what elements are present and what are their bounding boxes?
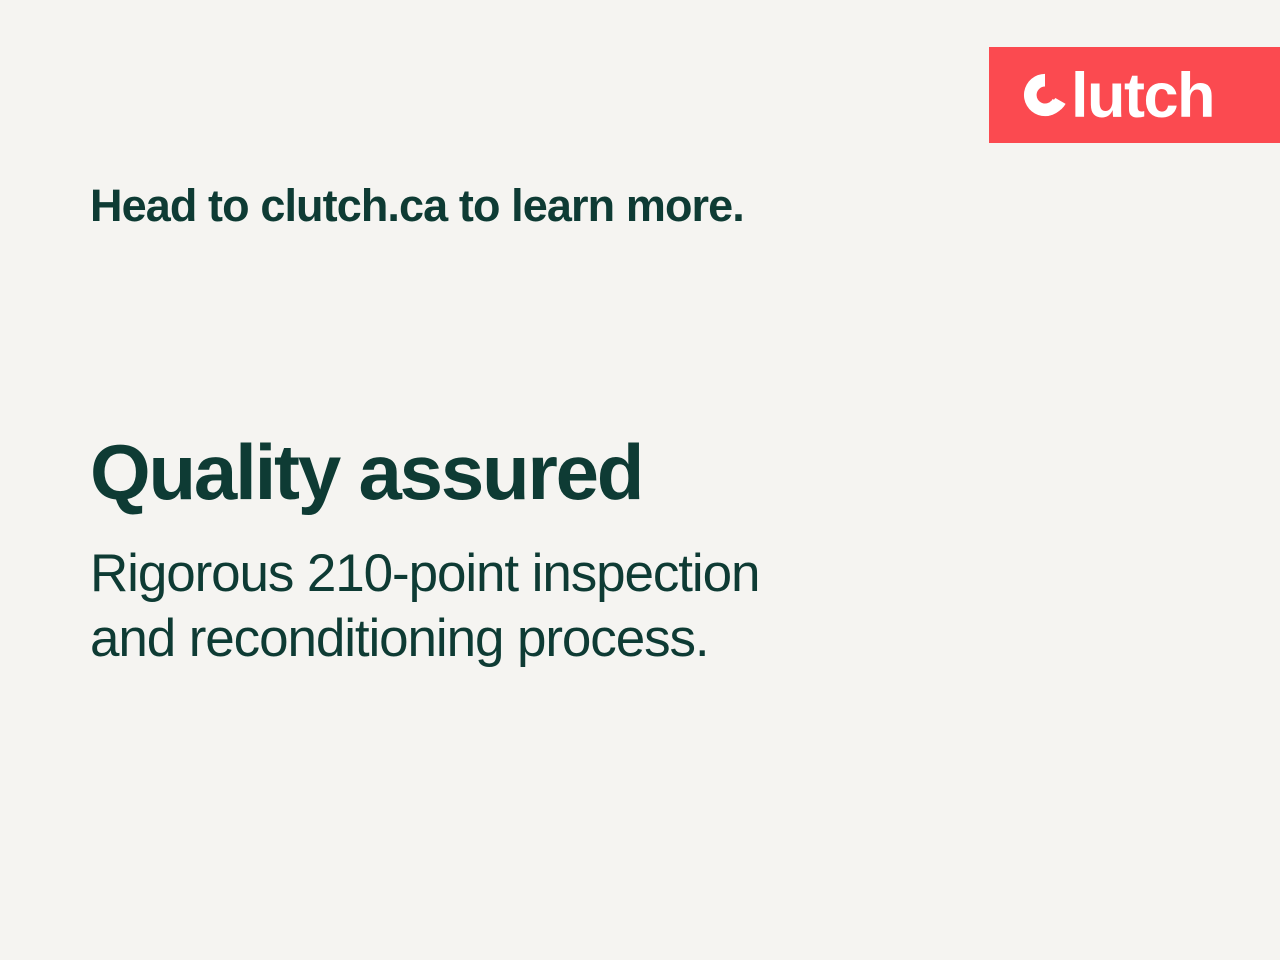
clutch-wordmark: lutch bbox=[1071, 65, 1214, 128]
clutch-c-mark-icon bbox=[1022, 72, 1068, 118]
clutch-logo[interactable]: lutch bbox=[1022, 64, 1214, 127]
headline: Quality assured bbox=[90, 432, 642, 513]
slide-canvas: lutch Head to clutch.ca to learn more. Q… bbox=[0, 0, 1280, 960]
body-copy-line: Rigorous 210-point inspection bbox=[90, 542, 759, 607]
body-copy-line: and reconditioning process. bbox=[90, 607, 759, 672]
tagline: Head to clutch.ca to learn more. bbox=[90, 181, 744, 231]
body-copy: Rigorous 210-point inspection and recond… bbox=[90, 542, 759, 671]
brand-banner: lutch bbox=[989, 47, 1280, 143]
